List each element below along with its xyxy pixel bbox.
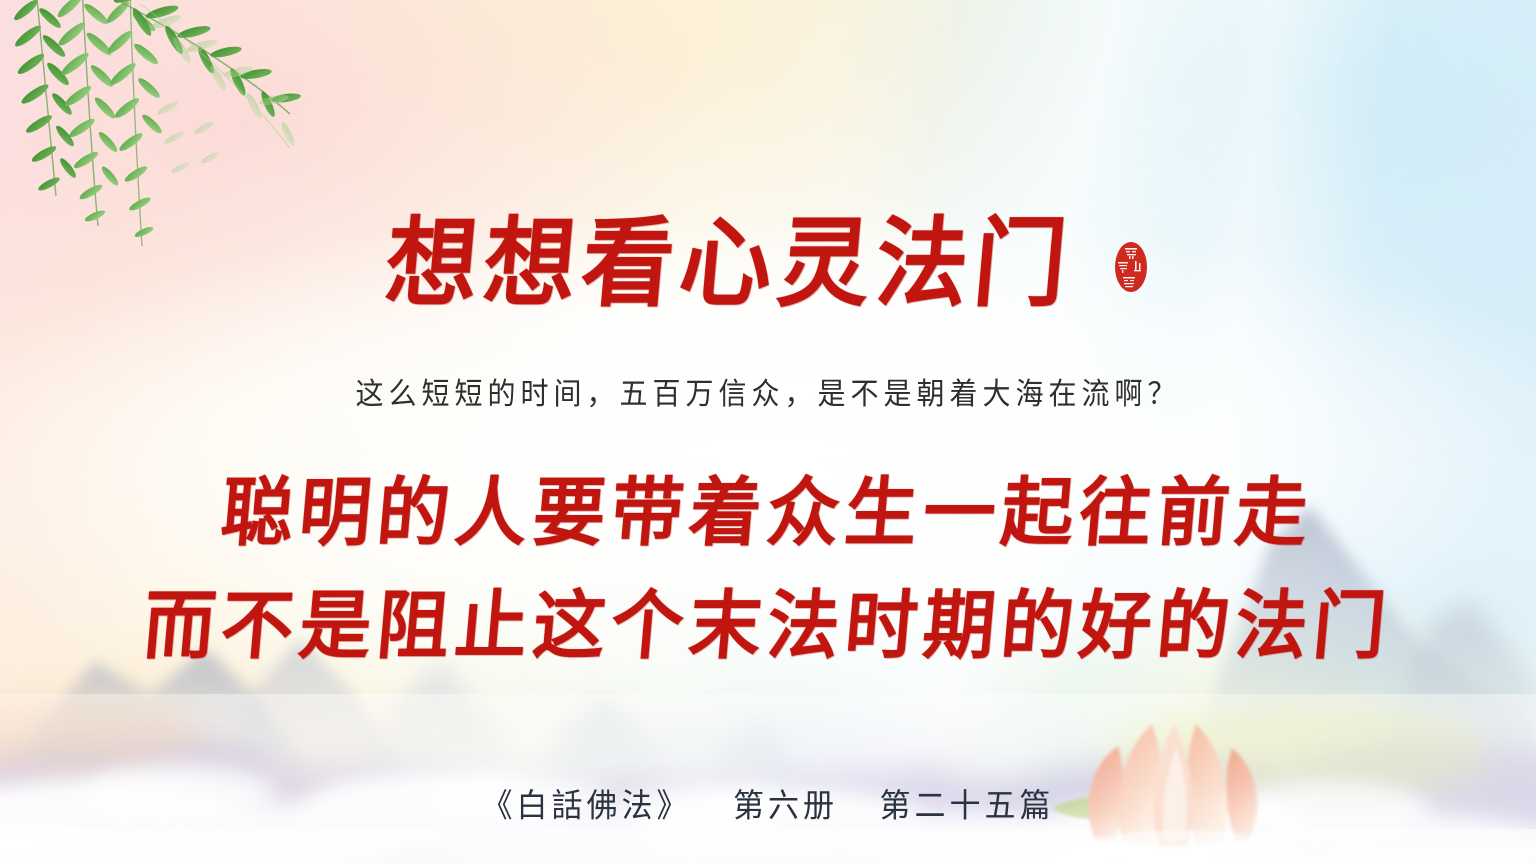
citation-chapter: 第二十五篇 — [880, 787, 1055, 824]
subtitle-text: 这么短短的时间，五百万信众，是不是朝着大海在流啊？ — [0, 370, 1536, 413]
citation-volume: 第六册 — [733, 787, 838, 824]
citation-book-title: 《白話佛法》 — [482, 787, 692, 824]
red-oval-seal-icon — [1112, 239, 1150, 295]
poster-content: 想想看心灵法门 — [0, 0, 1536, 864]
source-citation: 《白話佛法》 第六册 第二十五篇 — [0, 779, 1536, 826]
title-row: 想想看心灵法门 — [0, 216, 1536, 313]
page-title: 想想看心灵法门 — [382, 213, 1077, 315]
poster-canvas: 想想看心灵法门 — [0, 0, 1536, 864]
main-quote-line-1: 聪明的人要带着众生一起往前走 — [0, 451, 1536, 560]
main-quote-line-2: 而不是阻止这个末法时期的好的法门 — [0, 564, 1536, 673]
